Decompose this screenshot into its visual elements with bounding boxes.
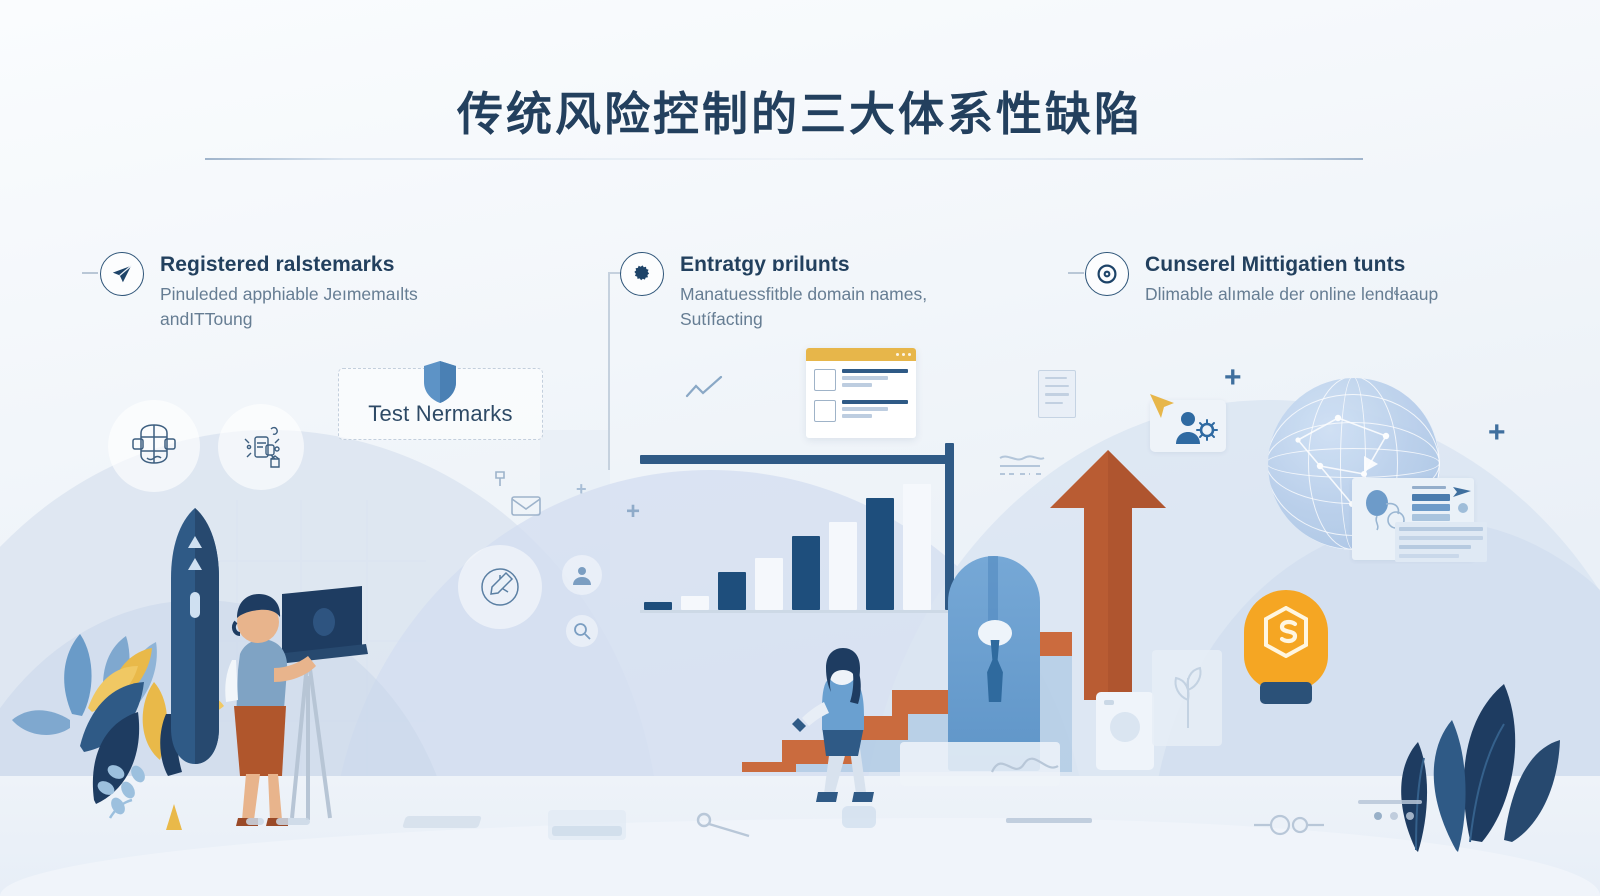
document-icon xyxy=(1038,370,1076,418)
bar-row xyxy=(1412,504,1450,511)
ground-detail xyxy=(276,818,310,825)
ground-detail xyxy=(1006,818,1092,823)
window-dot xyxy=(908,353,911,356)
slide-canvas: 传统风险控制的三大体系性缺陷 Registered ralstemarks Pi… xyxy=(0,0,1600,896)
ground-detail xyxy=(1406,812,1414,820)
window-dot xyxy=(902,353,905,356)
plus-mark-icon: + xyxy=(626,500,640,524)
target-icon xyxy=(1085,252,1129,296)
appliance-dial xyxy=(1110,712,1140,742)
vr-headset-icon xyxy=(108,400,200,492)
text-line xyxy=(842,400,908,404)
ground-detail xyxy=(552,826,622,836)
up-arrow-icon xyxy=(1048,450,1168,700)
bar xyxy=(866,498,894,610)
squiggle-icon xyxy=(990,748,1060,782)
bar xyxy=(903,484,931,610)
bar-row xyxy=(1412,494,1450,501)
trend-line-icon xyxy=(684,372,724,406)
callout-subtitle-3: Dlimable alımale der online lendɬaaup xyxy=(1145,282,1438,307)
plus-mark-icon: + xyxy=(576,480,587,498)
chart-top-rail xyxy=(640,455,952,464)
text-line xyxy=(842,407,888,411)
hex-s-logo-icon xyxy=(1262,606,1310,658)
bar xyxy=(755,558,783,610)
text-lines xyxy=(842,400,908,422)
wave-lines-icon xyxy=(998,452,1046,480)
ground-detail xyxy=(1390,812,1398,820)
link-glyph-icon xyxy=(488,466,512,492)
paper-plane-icon xyxy=(100,252,144,296)
appliance-detail xyxy=(1104,700,1114,705)
bar xyxy=(829,522,857,610)
ground-detail xyxy=(1374,812,1382,820)
list-item xyxy=(814,400,908,422)
bar xyxy=(718,572,746,610)
callout-subtitle-1: Pinuleded apphiable Jeımemaılts andITTou… xyxy=(160,282,490,332)
text-lines xyxy=(842,369,908,391)
ground-detail xyxy=(842,806,876,828)
user-badge-icon xyxy=(562,555,602,595)
text-line xyxy=(842,369,908,373)
connector-detail-icon xyxy=(1252,812,1326,838)
browser-body xyxy=(806,361,916,422)
text-line xyxy=(842,383,872,387)
shield-icon xyxy=(422,360,458,404)
callout-column-2[interactable]: Entratgy ɒrilunts Manatuessfitble domain… xyxy=(620,252,1040,332)
bar xyxy=(792,536,820,610)
magnifier-icon xyxy=(566,615,598,647)
thumbnail-icon xyxy=(814,400,836,422)
connector-line-col3 xyxy=(1068,272,1084,274)
plant-sprig-icon xyxy=(1160,660,1216,730)
callout-title-3: Cunserel Mittigatien tunts xyxy=(1145,253,1438,277)
vase-shape xyxy=(150,508,240,808)
badge-card-label: Test Nermarks xyxy=(368,401,512,427)
page-title: 传统风险控制的三大体系性缺陷 xyxy=(0,78,1600,144)
send-icon xyxy=(1452,484,1472,500)
plant-right xyxy=(1400,520,1600,860)
connector-line-col1 xyxy=(82,272,98,274)
envelope-icon xyxy=(510,494,542,518)
pen-clock-icon xyxy=(458,545,542,629)
tools-scatter-icon xyxy=(218,404,304,490)
text-line xyxy=(842,414,872,418)
window-dot xyxy=(896,353,899,356)
callout-column-1[interactable]: Registered ralstemarks Pinuleded apphiab… xyxy=(100,252,570,332)
text-line xyxy=(842,376,888,380)
monument-stripe xyxy=(988,556,998,626)
list-item xyxy=(814,369,908,391)
bar xyxy=(644,602,672,610)
cursor-arrow-icon xyxy=(1148,392,1178,420)
chart-bars xyxy=(644,465,944,610)
gear-icon xyxy=(620,252,664,296)
browser-window[interactable] xyxy=(806,348,916,438)
connector-line-col2 xyxy=(608,272,610,470)
callout-subtitle-2: Manatuessfitble domain names, Sutífactin… xyxy=(680,282,1010,332)
ground-detail xyxy=(1358,800,1422,804)
bar-chart xyxy=(640,455,960,610)
ground-detail xyxy=(246,818,264,825)
callout-title-1: Registered ralstemarks xyxy=(160,253,490,277)
lightbulb-base xyxy=(1260,682,1312,704)
thumbnail-icon xyxy=(814,369,836,391)
browser-titlebar xyxy=(806,348,916,361)
user-settings-icon xyxy=(1172,408,1220,446)
pin-detail-icon xyxy=(694,812,754,838)
title-divider xyxy=(205,158,1363,160)
plus-mark-icon: + xyxy=(1224,363,1242,393)
text-line xyxy=(1412,486,1446,489)
bar xyxy=(681,596,709,610)
callout-column-3[interactable]: Cunserel Mittigatien tunts Dlimable alım… xyxy=(1085,252,1505,307)
plus-mark-icon: + xyxy=(1488,418,1506,448)
callout-title-2: Entratgy ɒrilunts xyxy=(680,253,1010,277)
person-on-stairs xyxy=(788,648,898,816)
ground-detail xyxy=(402,816,482,828)
